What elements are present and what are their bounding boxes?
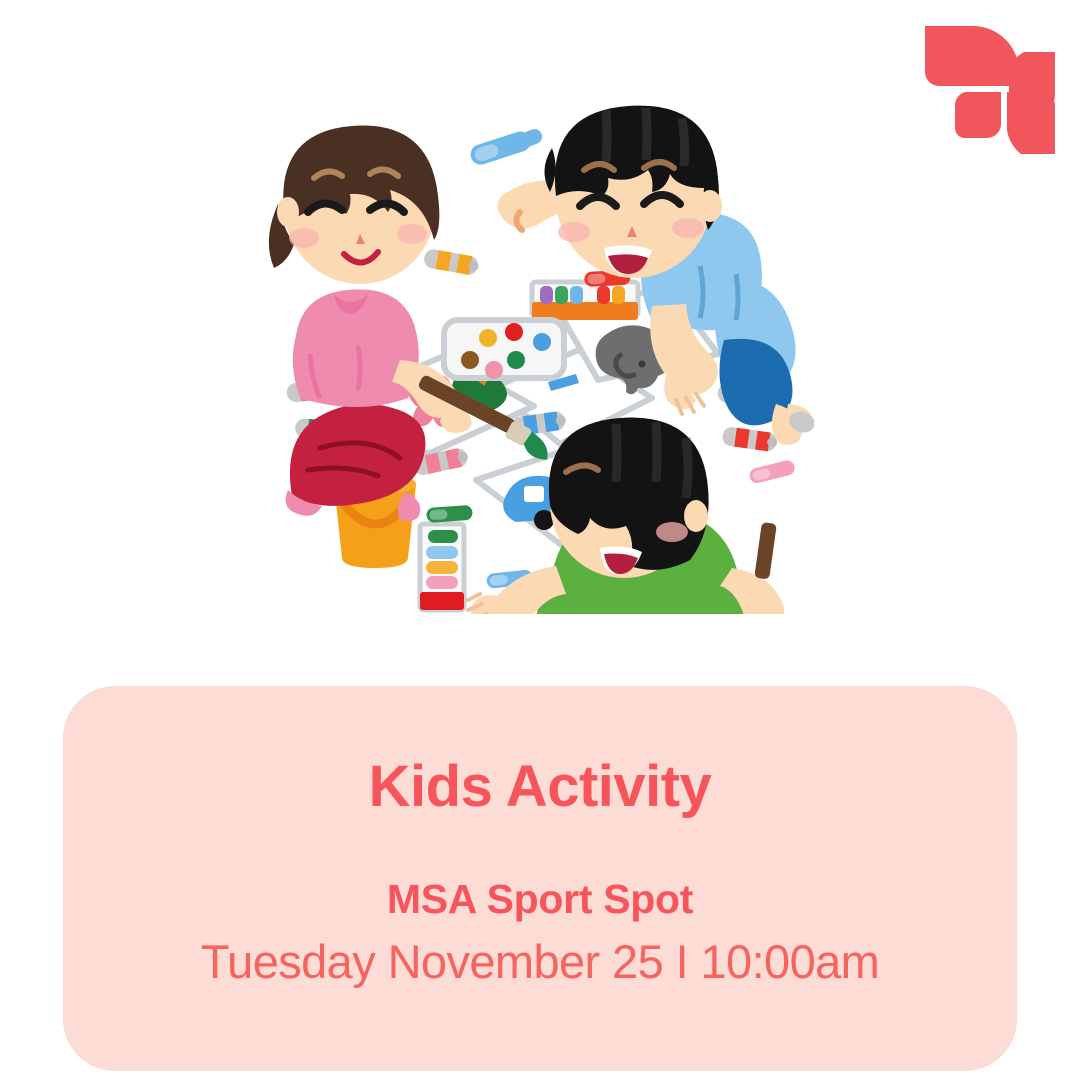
page-title: Kids Activity xyxy=(369,758,712,816)
venue-name: MSA Sport Spot xyxy=(387,879,693,920)
event-poster: Kids Activity MSA Sport Spot Tuesday Nov… xyxy=(0,0,1080,1080)
event-datetime: Tuesday November 25 I 10:00am xyxy=(201,936,879,988)
four-petal-flower-logo xyxy=(919,18,1061,160)
kids-painting-illustration xyxy=(248,88,814,614)
event-info-card: Kids Activity MSA Sport Spot Tuesday Nov… xyxy=(63,686,1017,1071)
